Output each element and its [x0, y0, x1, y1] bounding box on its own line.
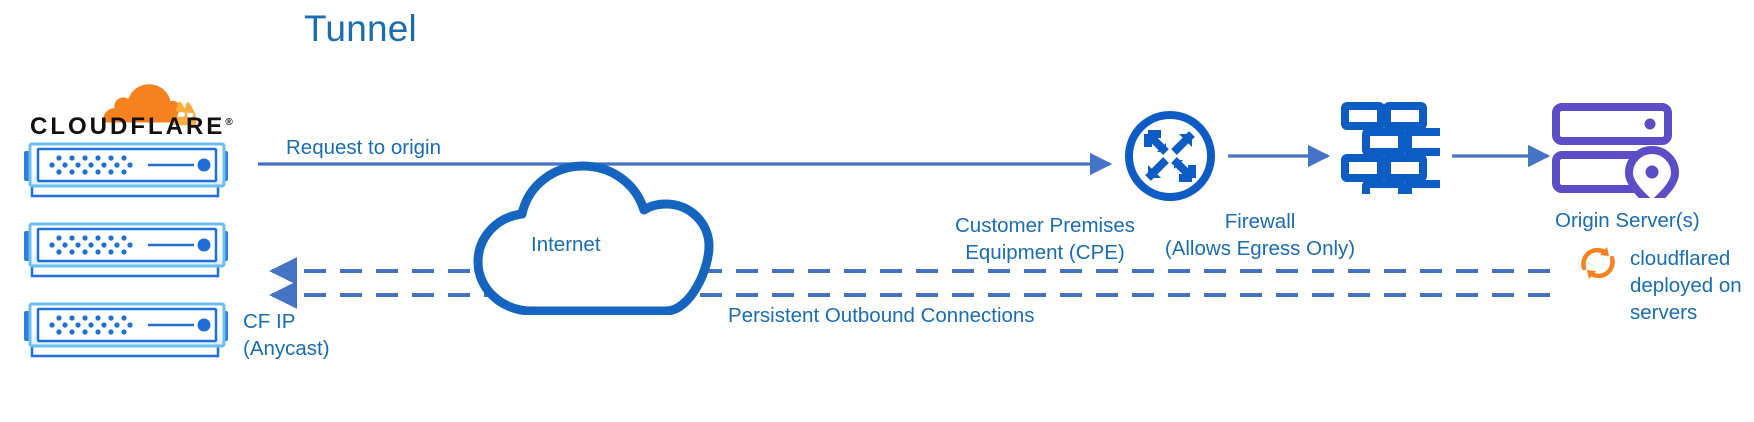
origin-servers-label: Origin Server(s)	[1555, 208, 1700, 234]
server-rack-pin-icon	[1551, 102, 1681, 198]
firewall-label-line1: Firewall	[1150, 208, 1370, 235]
arrows-inward-circle-icon	[1124, 110, 1216, 202]
request-to-origin-label: Request to origin	[286, 135, 441, 161]
persistent-outbound-label: Persistent Outbound Connections	[728, 303, 1035, 329]
sync-arrows-icon	[1576, 243, 1620, 283]
cf-ip-label-line1: CF IP	[243, 308, 330, 335]
cloudflared-label-line1: cloudflared	[1630, 245, 1748, 272]
cloudflared-label-line2: deployed on	[1630, 272, 1748, 299]
cf-ip-label-line2: (Anycast)	[243, 335, 330, 362]
internet-cloud-icon	[440, 140, 730, 315]
firewall-label: Firewall (Allows Egress Only)	[1150, 208, 1370, 262]
cpe-label: Customer Premises Equipment (CPE)	[940, 212, 1150, 266]
cloudflared-label-line3: servers	[1630, 299, 1748, 326]
cloudflared-label: cloudflared deployed on servers	[1630, 245, 1748, 326]
brick-wall-icon	[1340, 102, 1440, 194]
cf-ip-label: CF IP (Anycast)	[243, 308, 330, 362]
firewall-label-line2: (Allows Egress Only)	[1150, 235, 1370, 262]
cpe-label-line2: Equipment (CPE)	[940, 239, 1150, 266]
cpe-label-line1: Customer Premises	[940, 212, 1150, 239]
cloudflare-tunnel-diagram: Tunnel CLOUDFLARE®	[0, 0, 1754, 422]
internet-label: Internet	[531, 232, 601, 258]
